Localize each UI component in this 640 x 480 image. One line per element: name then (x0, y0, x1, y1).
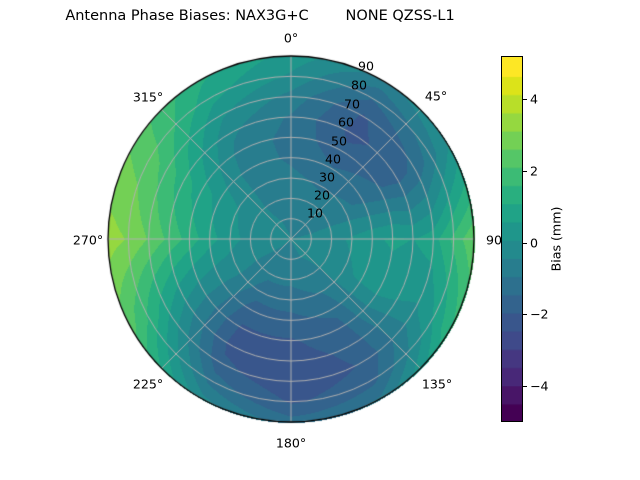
colorbar-axis-label: Bias (mm) (549, 207, 564, 272)
colorbar (501, 56, 523, 422)
colorbar-tick-label-0: 0 (530, 235, 538, 250)
polar-contour-plot (0, 0, 640, 480)
colorbar-tick-label-4: 4 (530, 92, 538, 107)
colorbar-tick-label-2: 2 (530, 163, 538, 178)
colorbar-tick-mark-0 (523, 243, 527, 244)
colorbar-tick-mark-−2 (523, 314, 527, 315)
colorbar-tick-mark-−4 (523, 386, 527, 387)
colorbar-tick-mark-2 (523, 171, 527, 172)
matplotlib-figure: Antenna Phase Biases: NAX3G+C NONE QZSS-… (0, 0, 640, 480)
colorbar-tick-label-−4: −4 (530, 379, 549, 394)
colorbar-tick-mark-4 (523, 99, 527, 100)
colorbar-tick-label-−2: −2 (530, 307, 549, 322)
colorbar-gradient (501, 56, 523, 422)
